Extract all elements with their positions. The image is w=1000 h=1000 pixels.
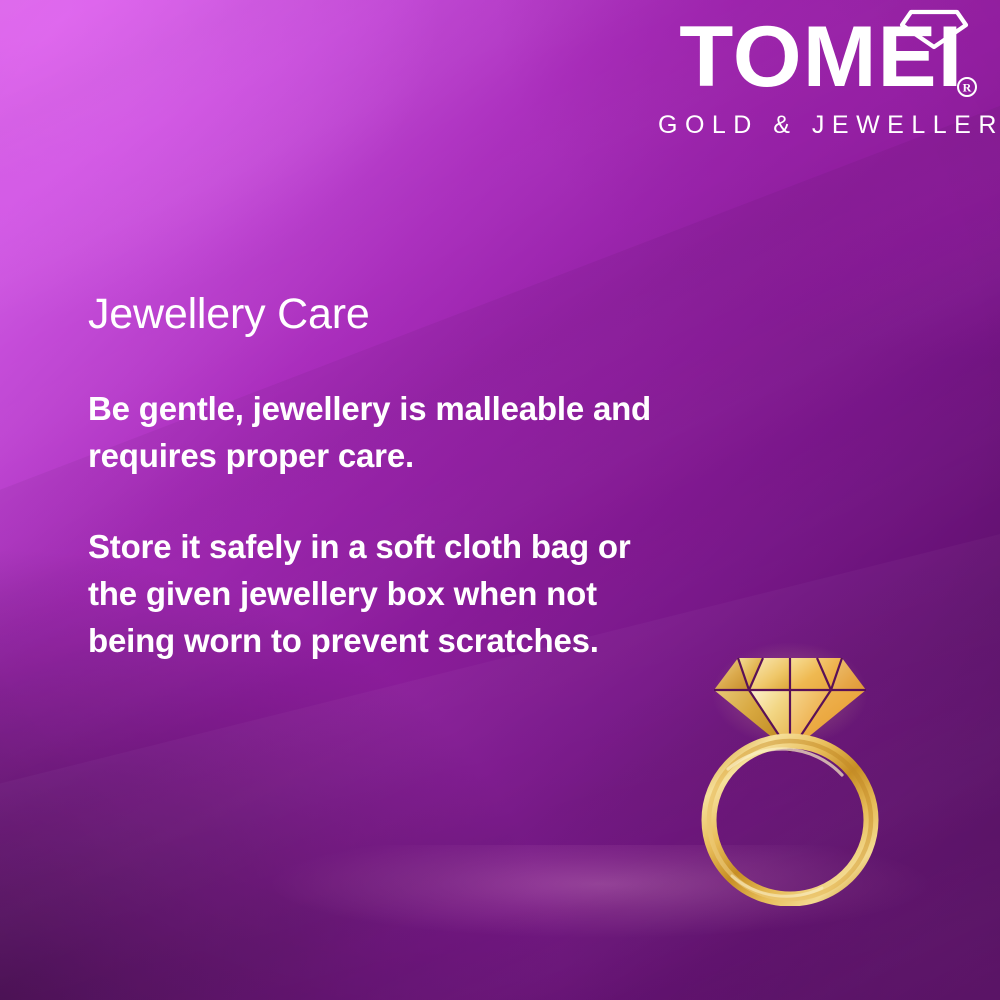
- gold-band: [709, 741, 871, 899]
- care-copy-block: Jewellery Care Be gentle, jewellery is m…: [88, 288, 658, 664]
- registered-trademark-icon: R: [956, 76, 978, 98]
- diamond-outline-icon: [898, 8, 970, 50]
- care-paragraph-1: Be gentle, jewellery is malleable and re…: [88, 385, 658, 479]
- tomei-logo: TOMEI R GOLD & JEWELLERY: [648, 6, 978, 140]
- jewellery-care-poster: TOMEI R GOLD & JEWELLERY Jewellery Care …: [0, 0, 1000, 1000]
- page-title: Jewellery Care: [88, 288, 658, 340]
- diamond-ring-illustration: [692, 636, 888, 906]
- svg-text:R: R: [963, 81, 972, 95]
- care-paragraph-2: Store it safely in a soft cloth bag or t…: [88, 523, 658, 664]
- logo-tagline: GOLD & JEWELLERY: [648, 110, 978, 140]
- logo-wordmark-row: TOMEI R: [648, 6, 978, 108]
